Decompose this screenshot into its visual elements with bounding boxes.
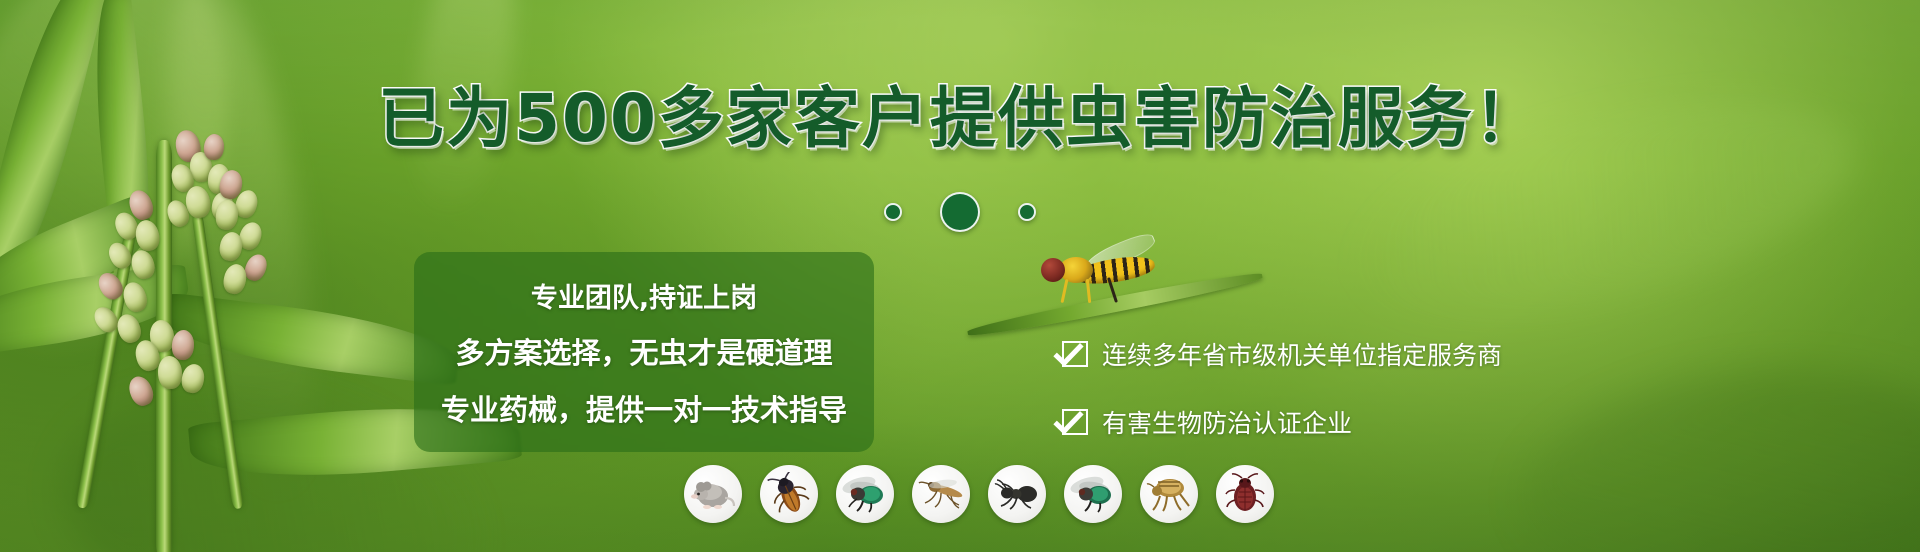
hoverfly-leg xyxy=(1061,279,1069,303)
selling-points-panel: 专业团队,持证上岗 多方案选择，无虫才是硬道理 专业药械，提供一对一技术指导 xyxy=(414,252,874,452)
mouse-icon xyxy=(684,465,742,523)
decorative-dot-large-center xyxy=(940,192,980,232)
hoverfly-illustration xyxy=(1035,245,1185,315)
selling-point-line-1: 专业团队,持证上岗 xyxy=(531,276,757,315)
credentials-checklist: 连续多年省市级机关单位指定服务商 有害生物防治认证企业 xyxy=(1062,336,1502,440)
selling-point-line-3: 专业药械，提供一对一技术指导 xyxy=(441,387,847,429)
housefly-icon xyxy=(1064,465,1122,523)
checkbox-checked-icon xyxy=(1062,409,1088,435)
checklist-item: 连续多年省市级机关单位指定服务商 xyxy=(1062,336,1502,372)
checklist-item-label: 连续多年省市级机关单位指定服务商 xyxy=(1102,336,1502,372)
bedbug-icon xyxy=(1216,465,1274,523)
checkbox-checked-icon xyxy=(1062,341,1088,367)
decorative-dot-small-left xyxy=(884,203,902,221)
hoverfly-head xyxy=(1041,258,1065,282)
decorative-dot-row xyxy=(0,192,1920,232)
pest-control-hero-banner: 已为500多家客户提供虫害防治服务！ 专业团队,持证上岗 多方案选择，无虫才是硬… xyxy=(0,0,1920,552)
mosquito-icon xyxy=(912,465,970,523)
decorative-dot-small-right xyxy=(1018,203,1036,221)
pest-icon-row xyxy=(684,465,1274,523)
banner-headline: 已为500多家客户提供虫害防治服务！ xyxy=(0,86,1920,152)
flea-icon xyxy=(1140,465,1198,523)
blowfly-icon xyxy=(836,465,894,523)
checklist-item-label: 有害生物防治认证企业 xyxy=(1102,404,1352,440)
selling-point-line-2: 多方案选择，无虫才是硬道理 xyxy=(455,330,832,372)
cockroach-icon xyxy=(760,465,818,523)
checklist-item: 有害生物防治认证企业 xyxy=(1062,404,1502,440)
ant-icon xyxy=(988,465,1046,523)
